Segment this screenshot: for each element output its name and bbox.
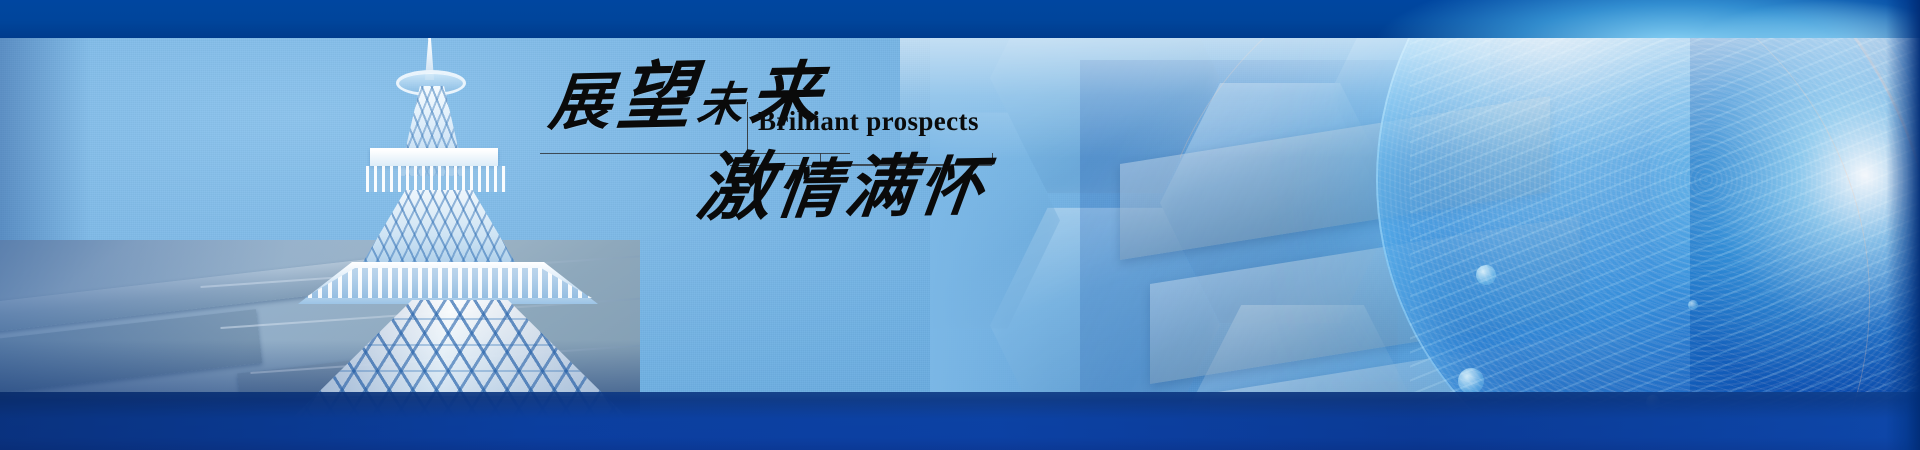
subhead-char-4: 怀 bbox=[915, 151, 993, 223]
subhead-char-1: 激 bbox=[693, 147, 782, 230]
headline-char-3: 未 bbox=[695, 79, 752, 131]
right-edge-frame bbox=[1886, 0, 1920, 450]
upper-haze-band bbox=[900, 38, 1920, 158]
flare-orb bbox=[1688, 300, 1698, 310]
headline-char-2: 望 bbox=[614, 56, 703, 140]
tower-mid-section bbox=[346, 190, 532, 272]
bottom-bar-sheen bbox=[0, 392, 1920, 450]
flare-orb bbox=[1458, 368, 1484, 394]
tower-balcony bbox=[370, 148, 498, 166]
hero-banner: 展望未来 Brilliant prospects 激情满怀 bbox=[0, 0, 1920, 450]
flare-orb bbox=[1476, 265, 1496, 285]
bottom-navy-bar bbox=[0, 392, 1920, 450]
headline-english: Brilliant prospects bbox=[758, 106, 979, 137]
tower-deck-railing bbox=[366, 166, 506, 192]
tower-lattice bbox=[346, 190, 532, 272]
top-bar-globe-glow bbox=[1280, 0, 1920, 38]
top-navy-bar bbox=[0, 0, 1920, 38]
headline-char-1: 展 bbox=[546, 68, 621, 137]
subhead-chinese: 激情满怀 bbox=[693, 147, 993, 226]
subhead-char-3: 满 bbox=[841, 149, 924, 226]
subhead-char-2: 情 bbox=[772, 154, 850, 226]
headline-text-block: 展望未来 Brilliant prospects 激情满怀 bbox=[540, 58, 1010, 218]
headline-vertical-divider bbox=[747, 102, 748, 152]
